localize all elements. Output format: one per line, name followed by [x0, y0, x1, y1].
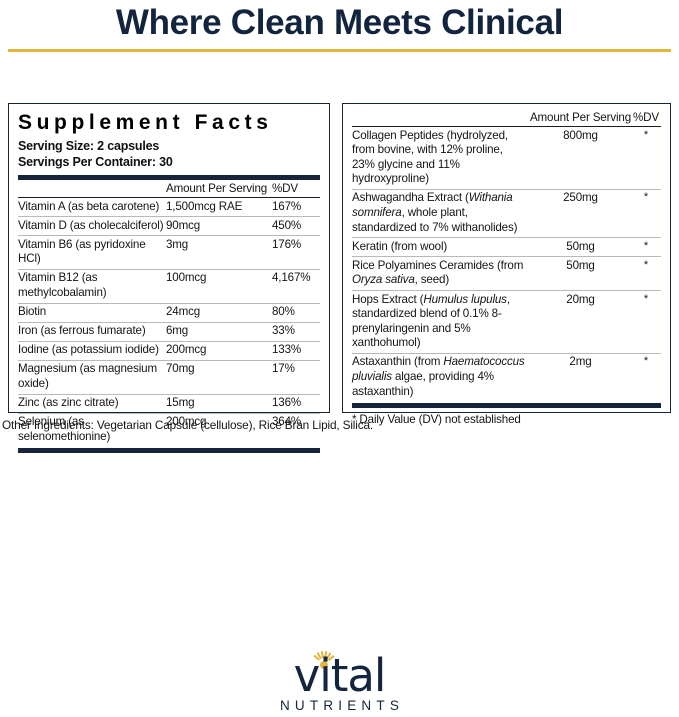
col-header-dv: %DV: [272, 180, 320, 198]
nutrient-amount: 24mcg: [166, 303, 272, 322]
table-row: Vitamin D (as cholecalciferol)90mcg450%: [18, 217, 320, 236]
other-ingredients-text: Other Ingredients: Vegetarian Capsule (c…: [2, 418, 662, 433]
nutrient-dv: 33%: [272, 322, 320, 341]
nutrient-amount: 200mcg: [166, 341, 272, 360]
supplement-facts-panel-left: Supplement Facts Serving Size: 2 capsule…: [8, 103, 330, 413]
brand-name: vital: [250, 653, 430, 699]
nutrient-name: Zinc (as zinc citrate): [18, 394, 166, 413]
nutrient-name: Vitamin A (as beta carotene): [18, 198, 166, 217]
nutrient-amount: 800mg: [530, 127, 631, 190]
nutrient-name: Vitamin D (as cholecalciferol): [18, 217, 166, 236]
nutrient-name: Ashwagandha Extract (Withania somnifera,…: [352, 189, 530, 237]
nutrient-dv: *: [631, 353, 661, 401]
nutrient-name: Iron (as ferrous fumarate): [18, 322, 166, 341]
nutrient-name-text: , seed): [415, 273, 449, 286]
nutrient-amount: 70mg: [166, 360, 272, 394]
nutrient-amount: 250mg: [530, 189, 631, 237]
nutrient-name: Vitamin B6 (as pyridoxine HCl): [18, 236, 166, 270]
nutrient-dv: 133%: [272, 341, 320, 360]
nutrient-dv: 176%: [272, 236, 320, 270]
nutrient-amount: 2mg: [530, 353, 631, 401]
right-nutrient-table: Amount Per Serving %DV Collagen Peptides…: [352, 109, 661, 401]
serving-size-line: Serving Size: 2 capsules: [18, 138, 320, 154]
col-header-amount: Amount Per Serving: [530, 109, 631, 127]
table-row: Iron (as ferrous fumarate)6mg33%: [18, 322, 320, 341]
table-row: Vitamin A (as beta carotene)1,500mcg RAE…: [18, 198, 320, 217]
nutrient-amount: 15mg: [166, 394, 272, 413]
nutrient-name-text: Collagen Peptides (hydrolyzed, from bovi…: [352, 129, 508, 186]
latin-binomial: Humulus lupulus: [423, 293, 506, 306]
table-row: Rice Polyamines Ceramides (from Oryza sa…: [352, 257, 661, 291]
nutrient-amount: 3mg: [166, 236, 272, 270]
nutrient-amount: 90mcg: [166, 217, 272, 236]
nutrient-name: Rice Polyamines Ceramides (from Oryza sa…: [352, 257, 530, 291]
thick-rule-bottom-right: [352, 403, 661, 408]
table-row: Iodine (as potassium iodide)200mcg133%: [18, 341, 320, 360]
supplement-facts-title: Supplement Facts: [18, 110, 320, 136]
nutrient-dv: 80%: [272, 303, 320, 322]
col-header-amount: Amount Per Serving: [166, 180, 272, 198]
nutrient-name: Iodine (as potassium iodide): [18, 341, 166, 360]
nutrient-name: Hops Extract (Humulus lupulus, standardi…: [352, 291, 530, 354]
table-row: Hops Extract (Humulus lupulus, standardi…: [352, 291, 661, 354]
nutrient-name-text: Keratin (from wool): [352, 240, 447, 253]
col-header-name: [18, 180, 166, 198]
gold-divider-rule: [8, 49, 671, 52]
nutrient-amount: 6mg: [166, 322, 272, 341]
nutrient-amount: 100mcg: [166, 269, 272, 303]
nutrient-name: Collagen Peptides (hydrolyzed, from bovi…: [352, 127, 530, 190]
nutrient-name: Magnesium (as magnesium oxide): [18, 360, 166, 394]
brand-subtitle: NUTRIENTS: [250, 698, 430, 713]
nutrient-amount: 20mg: [530, 291, 631, 354]
nutrient-amount: 50mg: [530, 238, 631, 257]
nutrient-dv: 4,167%: [272, 269, 320, 303]
nutrient-dv: *: [631, 189, 661, 237]
brand-logo: vital NUTRIENTS: [0, 650, 679, 712]
table-row: Ashwagandha Extract (Withania somnifera,…: [352, 189, 661, 237]
table-row: Astaxanthin (from Haematococcus pluviali…: [352, 353, 661, 401]
nutrient-dv: 450%: [272, 217, 320, 236]
nutrient-name-text: Ashwagandha Extract (: [352, 191, 469, 204]
servings-per-container-line: Servings Per Container: 30: [18, 154, 320, 170]
col-header-name: [352, 109, 530, 127]
nutrient-dv: *: [631, 291, 661, 354]
table-row: Zinc (as zinc citrate)15mg136%: [18, 394, 320, 413]
nutrient-dv: *: [631, 238, 661, 257]
latin-binomial: Oryza sativa: [352, 273, 415, 286]
table-row: Vitamin B12 (as methylcobalamin)100mcg4,…: [18, 269, 320, 303]
nutrient-name: Biotin: [18, 303, 166, 322]
table-row: Magnesium (as magnesium oxide)70mg17%: [18, 360, 320, 394]
table-header-row: Amount Per Serving %DV: [352, 109, 661, 127]
nutrient-dv: 167%: [272, 198, 320, 217]
table-header-row: Amount Per Serving %DV: [18, 180, 320, 198]
page-title: Where Clean Meets Clinical: [0, 2, 679, 44]
nutrient-name: Keratin (from wool): [352, 238, 530, 257]
table-row: Collagen Peptides (hydrolyzed, from bovi…: [352, 127, 661, 190]
left-nutrient-table: Amount Per Serving %DV Vitamin A (as bet…: [18, 180, 320, 446]
nutrient-name-text: Hops Extract (: [352, 293, 423, 306]
headline-banner: Where Clean Meets Clinical: [0, 0, 679, 52]
supplement-facts-panel-right: Amount Per Serving %DV Collagen Peptides…: [342, 103, 671, 413]
table-row: Keratin (from wool)50mg*: [352, 238, 661, 257]
table-row: Biotin24mcg80%: [18, 303, 320, 322]
nutrient-amount: 1,500mcg RAE: [166, 198, 272, 217]
nutrient-name: Astaxanthin (from Haematococcus pluviali…: [352, 353, 530, 401]
nutrient-name: Vitamin B12 (as methylcobalamin): [18, 269, 166, 303]
nutrient-amount: 50mg: [530, 257, 631, 291]
nutrient-dv: *: [631, 257, 661, 291]
thick-rule-bottom-left: [18, 448, 320, 453]
nutrient-dv: 136%: [272, 394, 320, 413]
nutrient-dv: 17%: [272, 360, 320, 394]
table-row: Vitamin B6 (as pyridoxine HCl)3mg176%: [18, 236, 320, 270]
col-header-dv: %DV: [631, 109, 661, 127]
nutrient-dv: *: [631, 127, 661, 190]
nutrient-name-text: Rice Polyamines Ceramides (from: [352, 259, 523, 272]
nutrient-name-text: Astaxanthin (from: [352, 355, 443, 368]
